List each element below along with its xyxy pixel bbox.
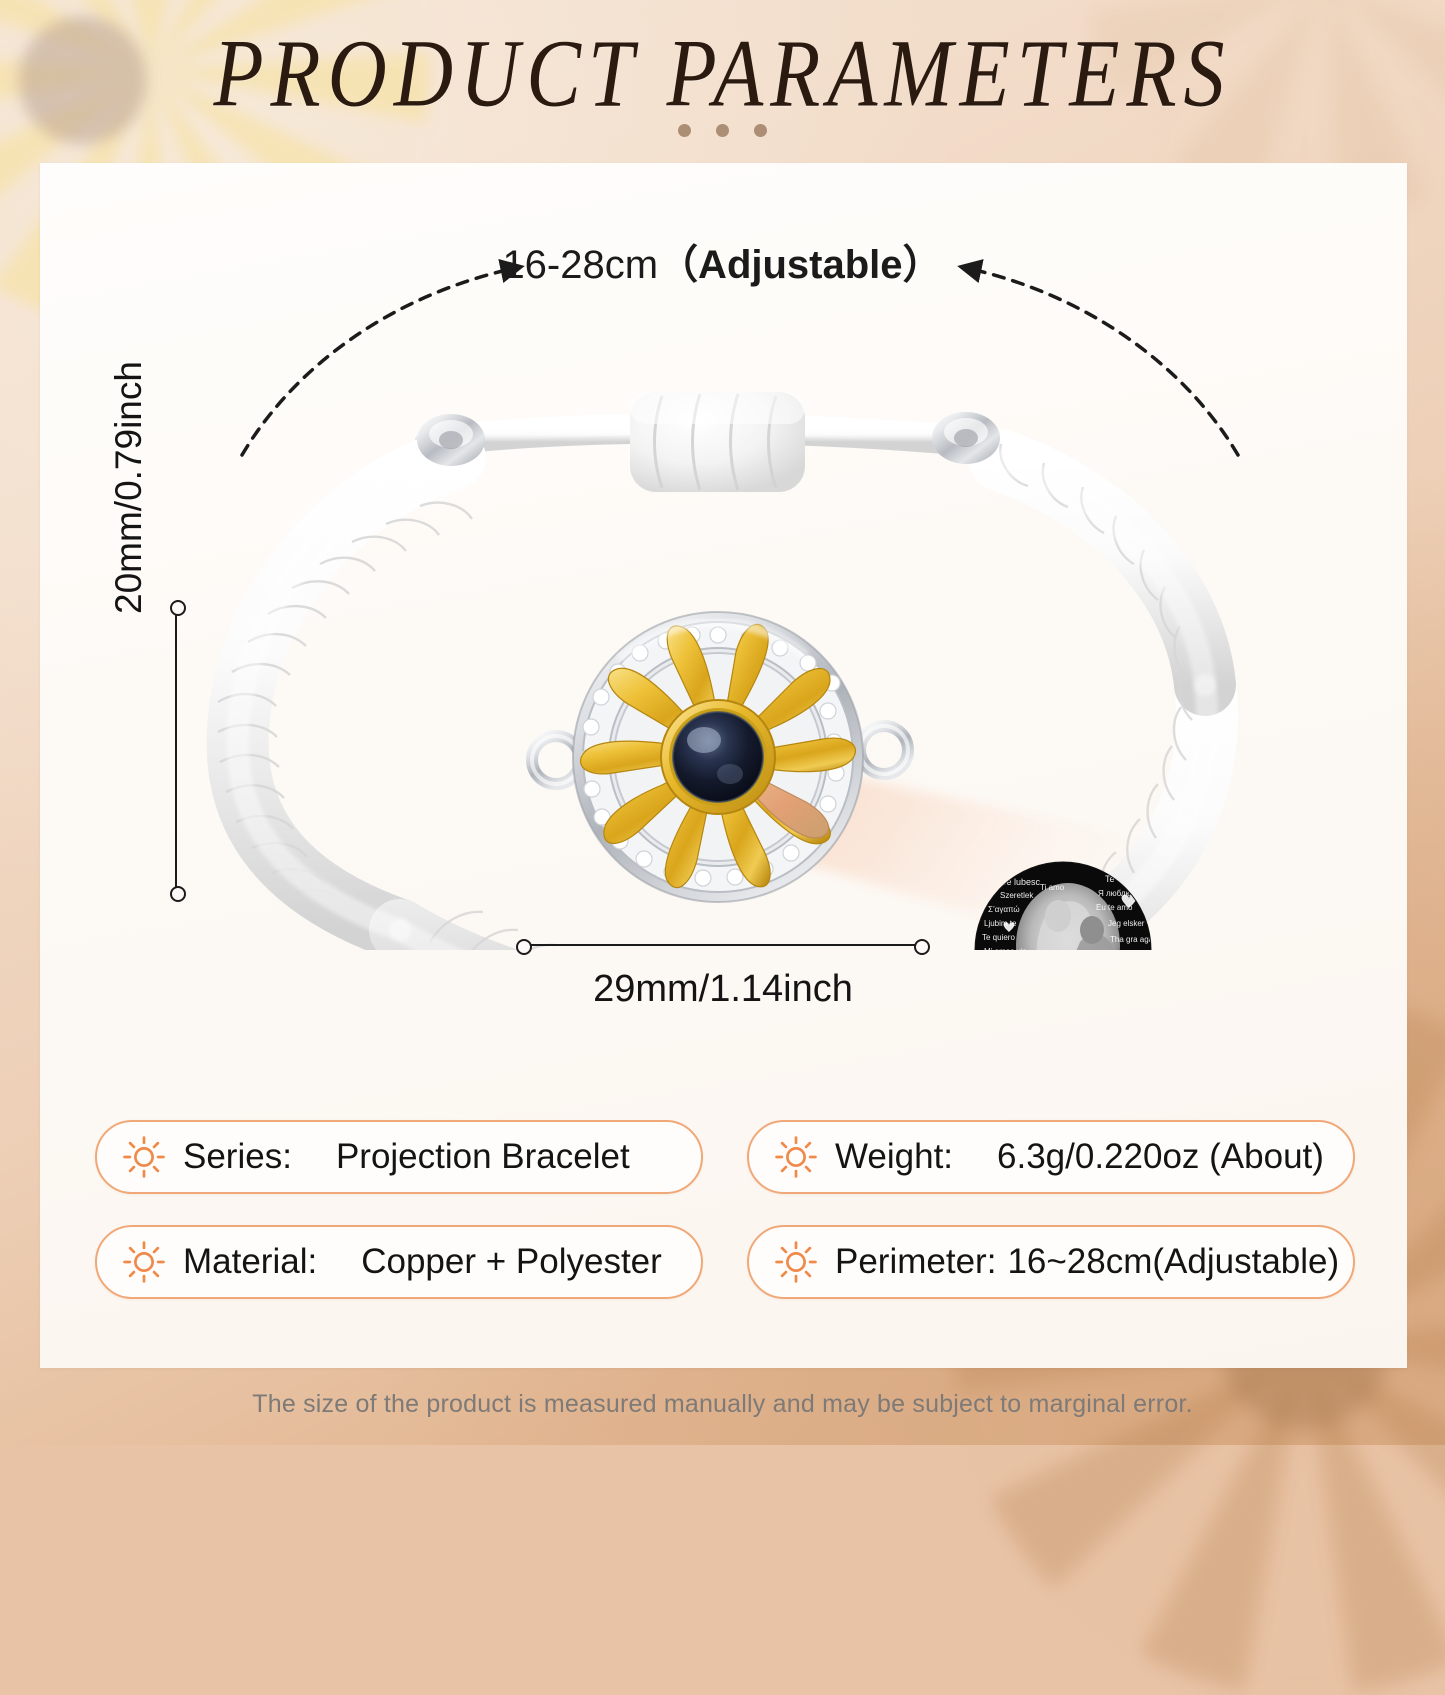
bracelet-illustration: Te lubesc Szeretlek Ti amo Te amo Я любл… xyxy=(0,330,1445,950)
title-divider-dots xyxy=(0,124,1445,137)
right-jump-ring xyxy=(860,726,908,774)
svg-text:Mi amas vin: Mi amas vin xyxy=(984,947,1027,950)
spec-label: Series: xyxy=(183,1137,292,1177)
spec-card-list: Series: Projection Bracelet Weight: 6.3g… xyxy=(95,1120,1355,1310)
spec-label: Weight: xyxy=(835,1137,953,1177)
infographic-root: PRODUCT PARAMETERS 16-28cm（Adjustable） xyxy=(0,0,1445,1445)
length-value: 16-28cm xyxy=(502,243,658,287)
spec-value: 16~28cm(Adjustable) xyxy=(1007,1242,1339,1282)
spec-value: Copper + Polyester xyxy=(361,1242,662,1282)
dimension-cap xyxy=(170,886,186,902)
svg-text:Szeretlek: Szeretlek xyxy=(1000,891,1034,900)
sun-charm xyxy=(573,612,863,902)
disclaimer-text: The size of the product is measured manu… xyxy=(0,1390,1445,1419)
dimension-cap xyxy=(170,600,186,616)
spec-card-material: Material: Copper + Polyester xyxy=(95,1225,703,1299)
spec-card-perimeter: Perimeter: 16~28cm(Adjustable) xyxy=(747,1225,1355,1299)
divider-dot xyxy=(754,124,767,137)
spec-card-weight: Weight: 6.3g/0.220oz (About) xyxy=(747,1120,1355,1194)
spec-label: Material: xyxy=(183,1242,317,1282)
header: PRODUCT PARAMETERS xyxy=(0,0,1445,163)
divider-dot xyxy=(716,124,729,137)
spec-value: 6.3g/0.220oz (About) xyxy=(997,1137,1324,1177)
dimension-cap xyxy=(914,939,930,955)
length-label: 16-28cm（Adjustable） xyxy=(0,232,1445,290)
left-end-cap xyxy=(417,414,485,466)
width-dimension-label: 29mm/1.14inch xyxy=(523,968,923,1011)
spec-value: Projection Bracelet xyxy=(336,1137,630,1177)
sun-icon xyxy=(123,1241,165,1283)
divider-dot xyxy=(678,124,691,137)
adjustable-slider-knot xyxy=(630,392,805,492)
svg-text:Te quiero: Te quiero xyxy=(982,933,1015,942)
dimension-cap xyxy=(516,939,532,955)
spec-card-series: Series: Projection Bracelet xyxy=(95,1120,703,1194)
svg-text:Ti amo: Ti amo xyxy=(1040,883,1065,892)
sun-icon xyxy=(123,1136,165,1178)
spec-label: Perimeter: xyxy=(835,1242,996,1282)
svg-text:Σ’αγαπώ: Σ’αγαπώ xyxy=(988,905,1020,914)
height-dimension-label: 20mm/0.79inch xyxy=(108,334,150,614)
length-adjustable-note: （Adjustable） xyxy=(658,243,942,287)
page-title: PRODUCT PARAMETERS xyxy=(0,18,1445,129)
sun-icon xyxy=(775,1136,817,1178)
sun-icon xyxy=(775,1241,817,1283)
height-dimension-line xyxy=(175,607,177,895)
right-end-cap xyxy=(932,412,1000,464)
width-dimension-line xyxy=(523,944,923,946)
